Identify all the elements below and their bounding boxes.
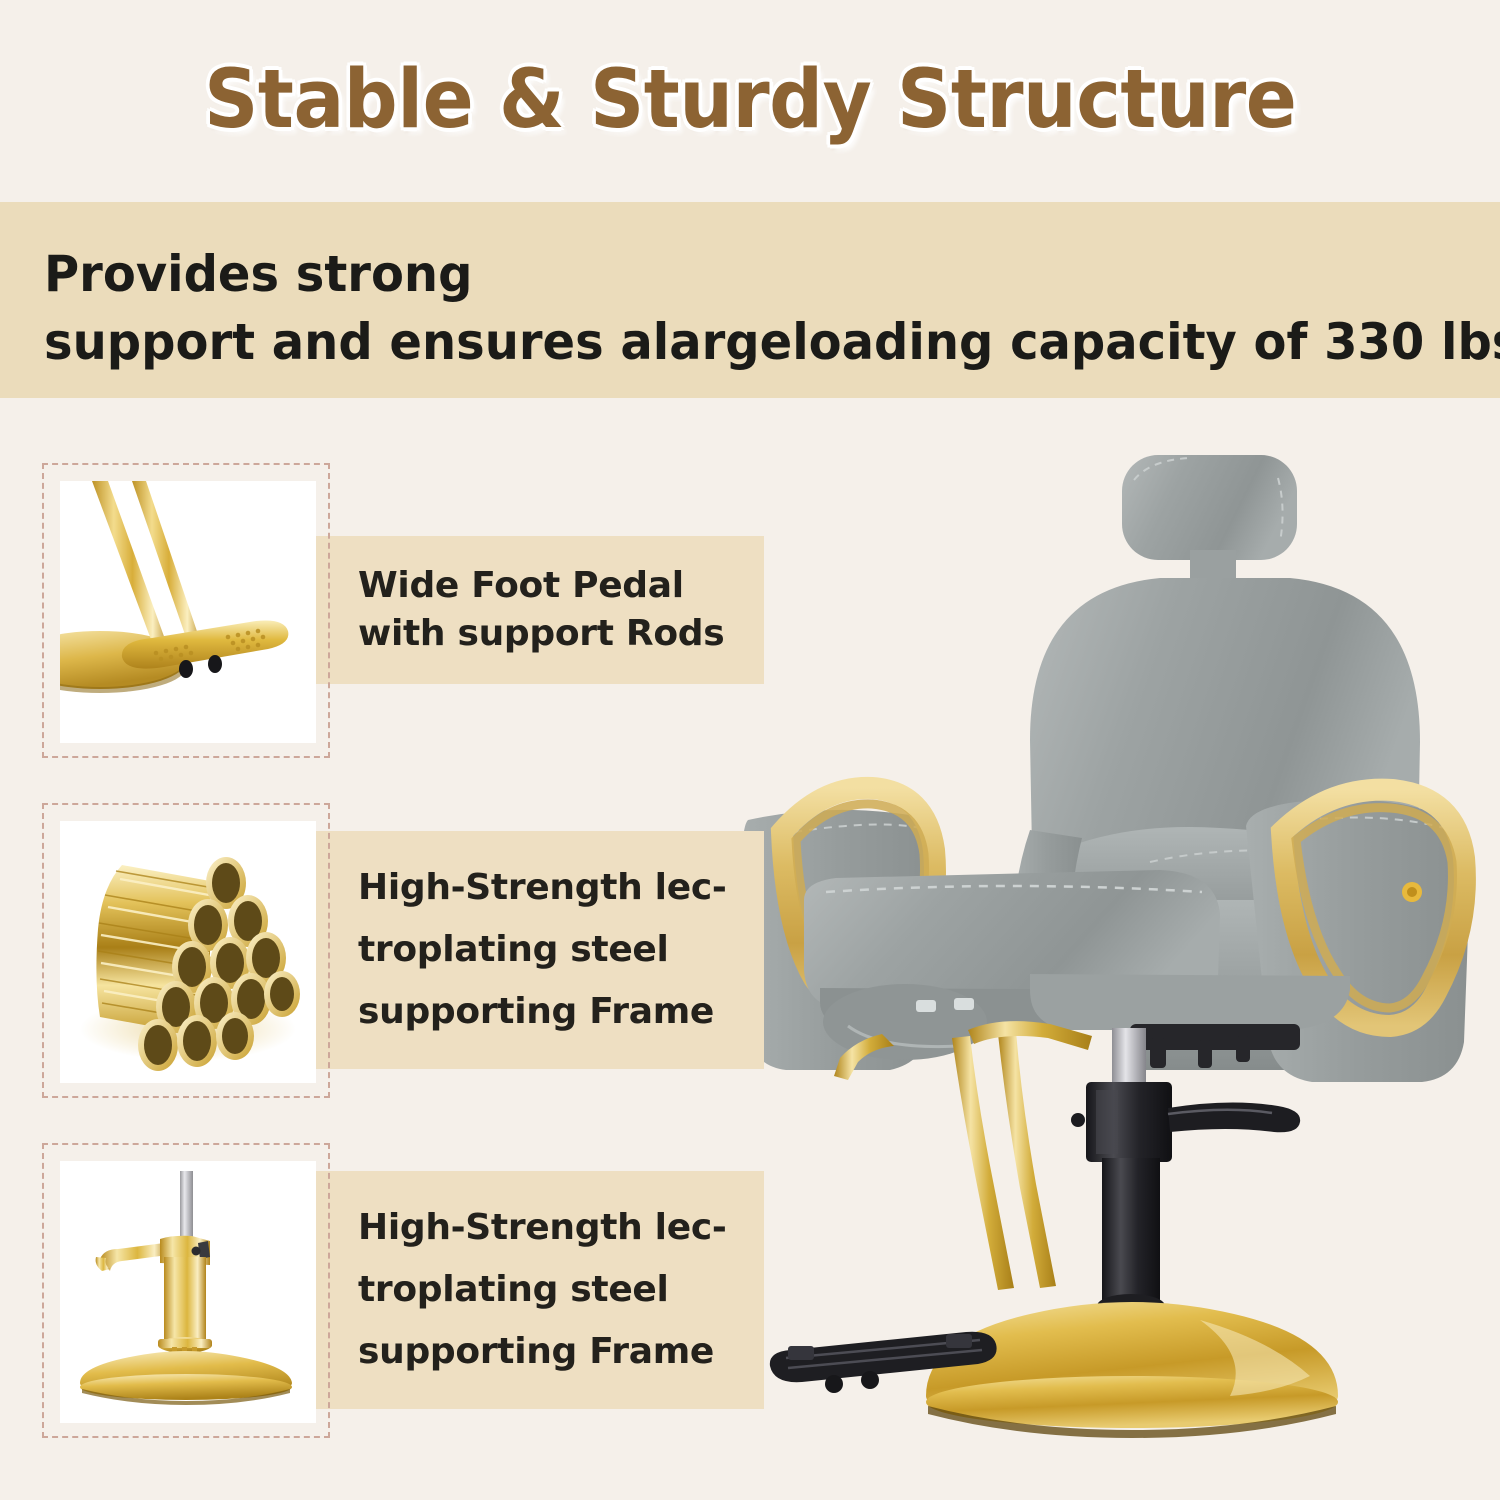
feature-thumbnail-frame: [42, 463, 330, 758]
grey-gold-salon-barber-chair-photo: [730, 430, 1500, 1460]
headrest: [1122, 455, 1297, 584]
feature-label: Wide Foot Pedal with support Rods: [316, 536, 764, 684]
gold-foot-pedal-photo: [60, 481, 316, 743]
feature-label-line: High-Strength lec-: [358, 1197, 734, 1259]
feature-label-line: supporting Frame: [358, 981, 734, 1043]
subtitle-line-2: support and ensures alargeloading capaci…: [44, 308, 1442, 376]
feature-label: High-Strength lec- troplating steel supp…: [316, 1171, 764, 1409]
gold-hydraulic-pump-base-photo: [60, 1161, 316, 1423]
gold-steel-tube-stack-photo: [60, 821, 316, 1083]
feature-row: Wide Foot Pedal with support Rods: [0, 455, 760, 765]
gold-disc-base: [926, 1302, 1338, 1438]
salon-chair-illustration: [730, 430, 1500, 1460]
feature-label-line: High-Strength lec-: [358, 857, 734, 919]
gold-hydraulic-pump-base-icon: [60, 1161, 316, 1423]
page-title: Stable & Sturdy Structure: [204, 53, 1296, 147]
gold-foot-pedal-icon: [60, 481, 316, 743]
feature-thumbnail-frame: [42, 803, 330, 1098]
feature-row: High-Strength lec- troplating steel supp…: [0, 1135, 760, 1445]
header: Stable & Sturdy Structure: [0, 0, 1500, 200]
subtitle-line-1: Provides strong: [44, 240, 1442, 308]
feature-label-line: supporting Frame: [358, 1321, 734, 1383]
subtitle-banner: Provides strong support and ensures alar…: [0, 202, 1500, 398]
black-hydraulic-cylinder: [1071, 1028, 1189, 1318]
feature-label-line: troplating steel: [358, 919, 734, 981]
feature-label: High-Strength lec- troplating steel supp…: [316, 831, 764, 1069]
feature-label-line: Wide Foot Pedal: [358, 562, 734, 610]
feature-label-line: with support Rods: [358, 610, 734, 658]
feature-label-line: troplating steel: [358, 1259, 734, 1321]
feature-row: High-Strength lec- troplating steel supp…: [0, 795, 760, 1105]
black-pump-lever: [1168, 1102, 1300, 1132]
feature-thumbnail-frame: [42, 1143, 330, 1438]
gold-steel-tube-stack-icon: [60, 821, 316, 1083]
feature-list: Wide Foot Pedal with support Rods: [0, 455, 760, 1500]
